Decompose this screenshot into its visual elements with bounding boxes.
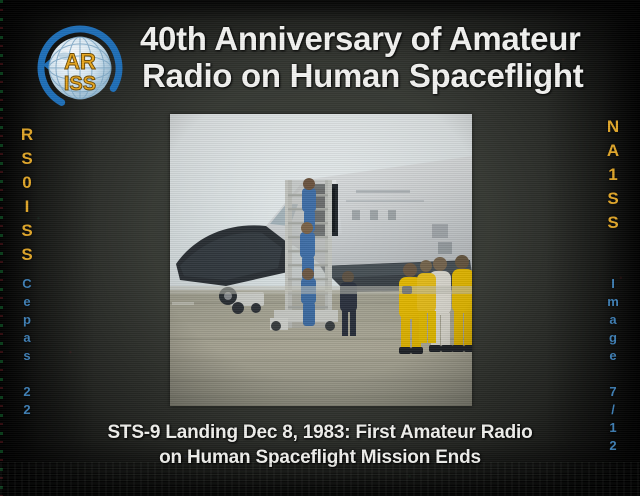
vertical-char: C: [14, 277, 40, 290]
vertical-char: S: [600, 214, 626, 231]
vertical-char: [600, 367, 626, 380]
ariss-logo-bottom-text: ISS: [64, 73, 96, 95]
ariss-logo: AR ISS: [33, 21, 127, 115]
caption-line-1: STS-9 Landing Dec 8, 1983: First Amateur…: [60, 420, 580, 445]
vertical-char: 1: [600, 166, 626, 183]
vertical-char: /: [600, 403, 626, 416]
vertical-char: 2: [14, 385, 40, 398]
vertical-char: e: [600, 349, 626, 362]
vertical-char: S: [14, 150, 40, 167]
vertical-char: A: [600, 142, 626, 159]
right-callsign-vertical: NA1SS: [600, 118, 626, 238]
vertical-char: S: [600, 190, 626, 207]
ariss-logo-artwork: AR ISS: [33, 21, 127, 115]
vertical-char: s: [14, 349, 40, 362]
vertical-char: N: [600, 118, 626, 135]
ariss-logo-top-text: AR: [64, 49, 96, 74]
headline-line-1: 40th Anniversary of Amateur: [140, 20, 632, 57]
headline-line-2: Radio on Human Spaceflight: [142, 57, 632, 94]
vertical-char: 1: [600, 421, 626, 434]
vertical-char: I: [14, 198, 40, 215]
vertical-char: 7: [600, 385, 626, 398]
left-callsign-vertical: RS0ISS: [14, 126, 40, 270]
vertical-char: R: [14, 126, 40, 143]
vertical-char: m: [600, 295, 626, 308]
vertical-char: a: [14, 331, 40, 344]
vertical-char: I: [600, 277, 626, 290]
vertical-char: p: [14, 313, 40, 326]
headline: 40th Anniversary of Amateur Radio on Hum…: [140, 20, 632, 95]
photo-caption: STS-9 Landing Dec 8, 1983: First Amateur…: [60, 420, 580, 471]
caption-line-2: on Human Spaceflight Mission Ends: [60, 445, 580, 470]
vertical-char: S: [14, 246, 40, 263]
vertical-char: [14, 367, 40, 380]
vertical-char: a: [600, 313, 626, 326]
vertical-char: 2: [600, 439, 626, 452]
vertical-char: 2: [14, 403, 40, 416]
sstv-image-frame: AR ISS 40th Anniversary of Amateur Radio…: [0, 0, 640, 496]
vertical-char: e: [14, 295, 40, 308]
vertical-char: S: [14, 222, 40, 239]
left-subtitle-vertical: Cepas 22: [14, 277, 40, 421]
vertical-char: 0: [14, 174, 40, 191]
right-subtitle-vertical: Image 7/12: [600, 277, 626, 457]
vertical-char: g: [600, 331, 626, 344]
